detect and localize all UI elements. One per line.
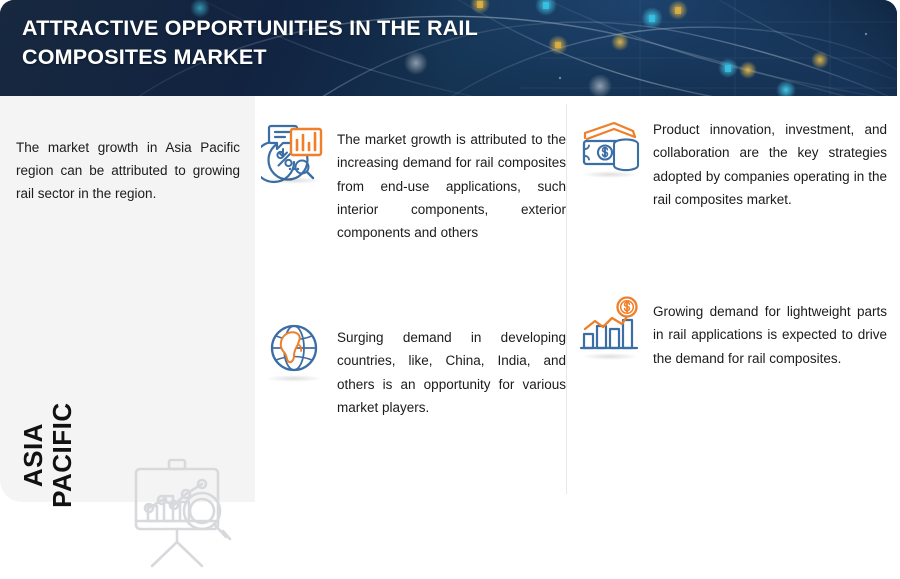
left-panel-intro-text: The market growth in Asia Pacific region… [16,136,240,206]
infographic-slide: ATTRACTIVE OPPORTUNITIES IN THE RAIL COM… [0,0,900,502]
money-cash-coins-icon [577,114,643,180]
info-cell-market-growth: The market growth is attributed to the i… [261,120,566,245]
info-cell-text: Product innovation, investment, and coll… [653,114,887,211]
info-cell-text: The market growth is attributed to the i… [337,120,566,245]
content-area: The market growth in Asia Pacific region… [0,96,897,502]
left-panel: The market growth in Asia Pacific region… [0,96,255,502]
page-title: ATTRACTIVE OPPORTUNITIES IN THE RAIL COM… [22,14,542,71]
info-cell-text: Surging demand in developing countries, … [337,318,566,419]
icon-shadow [582,353,638,360]
icon-shadow [266,375,322,382]
column-divider [566,104,567,494]
growth-bar-chart-dollar-icon [577,296,643,362]
chart-analysis-percentage-icon [261,120,327,186]
globe-icon [261,318,327,384]
region-label: ASIA PACIFIC [19,390,77,520]
info-cell-product-innovation: Product innovation, investment, and coll… [577,114,887,211]
icon-shadow [266,177,322,184]
header-banner: ATTRACTIVE OPPORTUNITIES IN THE RAIL COM… [0,0,897,96]
icon-shadow [582,171,638,178]
presentation-board-analytics-icon [122,458,242,574]
info-cell-lightweight-parts: Growing demand for lightweight parts in … [577,296,887,370]
right-panel: The market growth is attributed to the i… [255,96,897,502]
info-cell-surging-demand: Surging demand in developing countries, … [261,318,566,419]
info-cell-text: Growing demand for lightweight parts in … [653,296,887,370]
